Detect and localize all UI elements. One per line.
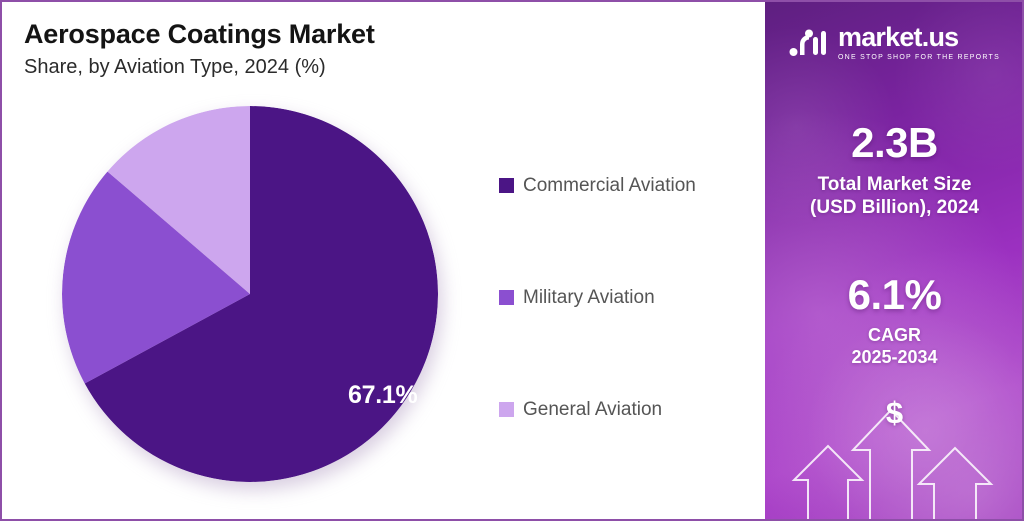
legend-label: General Aviation: [523, 400, 662, 419]
legend-swatch-icon: [499, 178, 514, 193]
legend: Commercial Aviation Military Aviation Ge…: [499, 172, 749, 422]
cagr-value: 6.1%: [765, 274, 1024, 316]
pie-svg: [62, 106, 438, 482]
market-size-label: Total Market Size (USD Billion), 2024: [765, 173, 1024, 219]
growth-arrows-icon: [765, 384, 1024, 519]
pie-chart: 67.1%: [62, 106, 438, 482]
legend-swatch-icon: [499, 402, 514, 417]
market-logo-icon: [789, 28, 831, 58]
cagr-stat: 6.1% CAGR 2025-2034: [765, 274, 1024, 369]
logo-tagline: ONE STOP SHOP FOR THE REPORTS: [838, 54, 1000, 61]
logo-text: market.us ONE STOP SHOP FOR THE REPORTS: [838, 24, 1000, 61]
cagr-label-line1: CAGR: [765, 325, 1024, 347]
market-size-stat: 2.3B Total Market Size (USD Billion), 20…: [765, 122, 1024, 219]
infographic-frame: Aerospace Coatings Market Share, by Avia…: [0, 0, 1024, 521]
page-title: Aerospace Coatings Market: [24, 20, 624, 50]
brand-panel: market.us ONE STOP SHOP FOR THE REPORTS …: [765, 2, 1024, 519]
market-size-label-line1: Total Market Size: [765, 173, 1024, 196]
cagr-label: CAGR 2025-2034: [765, 325, 1024, 369]
legend-item-commercial-aviation[interactable]: Commercial Aviation: [499, 172, 749, 198]
title-block: Aerospace Coatings Market Share, by Avia…: [24, 20, 624, 79]
legend-item-military-aviation[interactable]: Military Aviation: [499, 284, 749, 310]
legend-label: Military Aviation: [523, 288, 655, 307]
market-size-label-line2: (USD Billion), 2024: [765, 196, 1024, 219]
legend-label: Commercial Aviation: [523, 176, 696, 195]
cagr-label-line2: 2025-2034: [765, 347, 1024, 369]
brand-logo[interactable]: market.us ONE STOP SHOP FOR THE REPORTS: [765, 24, 1024, 61]
chart-panel: Aerospace Coatings Market Share, by Avia…: [2, 2, 765, 519]
logo-wordmark: market.us: [838, 24, 1000, 51]
legend-swatch-icon: [499, 290, 514, 305]
page-subtitle: Share, by Aviation Type, 2024 (%): [24, 56, 624, 79]
pie-slice-label: 67.1%: [348, 381, 417, 410]
market-size-value: 2.3B: [765, 122, 1024, 164]
legend-item-general-aviation[interactable]: General Aviation: [499, 396, 749, 422]
